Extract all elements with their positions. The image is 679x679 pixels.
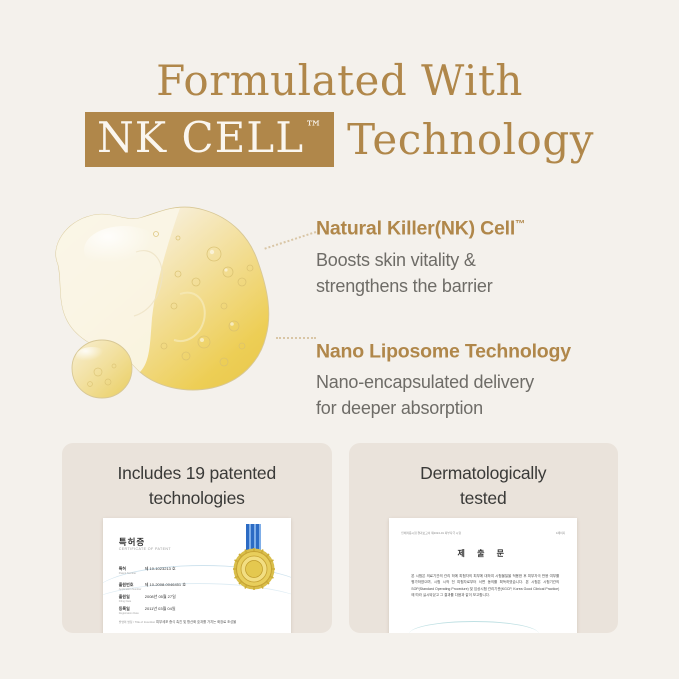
card-dermatology: Dermatologically tested 인체적용시험 결과보고서 제20…: [349, 443, 619, 633]
certificate-row-value: 2011년 03월 04일: [145, 606, 176, 611]
card-title-line-2: tested: [365, 486, 603, 511]
report-body-text: 본 시험은 의료기관의 관리 하에 피험자의 피부에 대하여 시험물질을 적용한…: [411, 573, 559, 599]
certificate-invention-caption: 발명의 명칭 / Title of Invention: [119, 620, 155, 624]
feature-description-line-1: Boosts skin vitality &: [316, 247, 666, 273]
connector-line-nano-liposome: [276, 337, 316, 339]
certificate-row-sublabel: Filing Date: [119, 600, 176, 603]
certificate-row-sublabel: Application Number: [119, 588, 186, 591]
serum-texture-image: [28, 186, 300, 426]
card-patents: Includes 19 patented technologies 특허증 CE…: [62, 443, 332, 633]
certificate-row: 등록일2011년 03월 04일 Registration Date: [119, 606, 176, 615]
feature-item-natural-killer-cell: Natural Killer(NK) Cell™ Boosts skin vit…: [316, 212, 666, 299]
nk-cell-badge-label: NK CELL: [97, 116, 304, 160]
certificate-row-sublabel: Patent Number: [119, 572, 176, 575]
feature-description-line-1: Nano-encapsulated delivery: [316, 369, 666, 395]
patent-certificate-image: 특허증 CERTIFICATE OF PATENT 특허제 10-1023213…: [103, 518, 291, 633]
feature-title: Natural Killer(NK) Cell™: [316, 212, 666, 242]
certificate-row: 특허제 10-1023213 호 Patent Number: [119, 566, 176, 575]
feature-description-line-2: strengthens the barrier: [316, 273, 666, 299]
certificate-row-value: 제 10-1023213 호: [145, 566, 176, 571]
card-title: Dermatologically tested: [349, 443, 619, 511]
certificate-invention-text: 피부세포 증식 촉진 및 항산화 효과를 가지는 화장료 조성물: [156, 620, 236, 624]
certificate-invention-note: 발명의 명칭 / Title of Invention 피부세포 증식 촉진 및…: [119, 620, 269, 625]
card-title-line-2: technologies: [78, 486, 316, 511]
feature-item-nano-liposome-technology: Nano Liposome Technology Nano-encapsulat…: [316, 335, 666, 422]
page-title: Formulated With NK CELL™ Technology: [0, 56, 679, 167]
trademark-icon: ™: [515, 219, 525, 230]
nk-cell-badge: NK CELL™: [85, 112, 334, 167]
card-title-line-1: Includes 19 patented: [78, 461, 316, 486]
report-header-left: 인체적용시험 결과보고서 제2024-01 피부자극 시험: [401, 531, 461, 535]
report-wave-decoration: [409, 621, 539, 633]
gold-seal-icon: [233, 548, 275, 590]
report-header-right: 1페이지: [556, 531, 565, 535]
nk-cell-trademark-icon: ™: [305, 118, 322, 138]
feature-description: Nano-encapsulated delivery for deeper ab…: [316, 369, 666, 421]
feature-list: Natural Killer(NK) Cell™ Boosts skin vit…: [316, 212, 666, 421]
test-report-image: 인체적용시험 결과보고서 제2024-01 피부자극 시험 1페이지 제 출 문…: [389, 518, 577, 633]
report-header: 인체적용시험 결과보고서 제2024-01 피부자극 시험 1페이지: [401, 531, 565, 535]
certificate-row-value: 2008년 05월 27일: [145, 594, 176, 599]
feature-description: Boosts skin vitality & strengthens the b…: [316, 247, 666, 299]
certificate-row-value: 제 10-2008-0046451 호: [145, 582, 186, 587]
feature-title: Nano Liposome Technology: [316, 335, 666, 365]
infographic-page: Formulated With NK CELL™ Technology: [0, 0, 679, 679]
feature-title-text: Natural Killer(NK) Cell: [316, 218, 515, 240]
report-title: 제 출 문: [389, 548, 577, 559]
feature-title-text: Nano Liposome Technology: [316, 340, 571, 362]
certificate-row: 출원일2008년 05월 27일 Filing Date: [119, 594, 176, 603]
feature-description-line-2: for deeper absorption: [316, 395, 666, 421]
card-title-line-1: Dermatologically: [365, 461, 603, 486]
certificate-row-sublabel: Registration Date: [119, 612, 176, 615]
proof-cards: Includes 19 patented technologies 특허증 CE…: [62, 443, 618, 633]
certificate-subheading: CERTIFICATE OF PATENT: [119, 547, 171, 551]
title-technology-word: Technology: [347, 114, 594, 166]
card-title: Includes 19 patented technologies: [62, 443, 332, 511]
title-line-2: NK CELL™ Technology: [0, 112, 679, 167]
certificate-row: 출원번호제 10-2008-0046451 호 Application Numb…: [119, 582, 186, 591]
title-line-1: Formulated With: [0, 56, 679, 106]
